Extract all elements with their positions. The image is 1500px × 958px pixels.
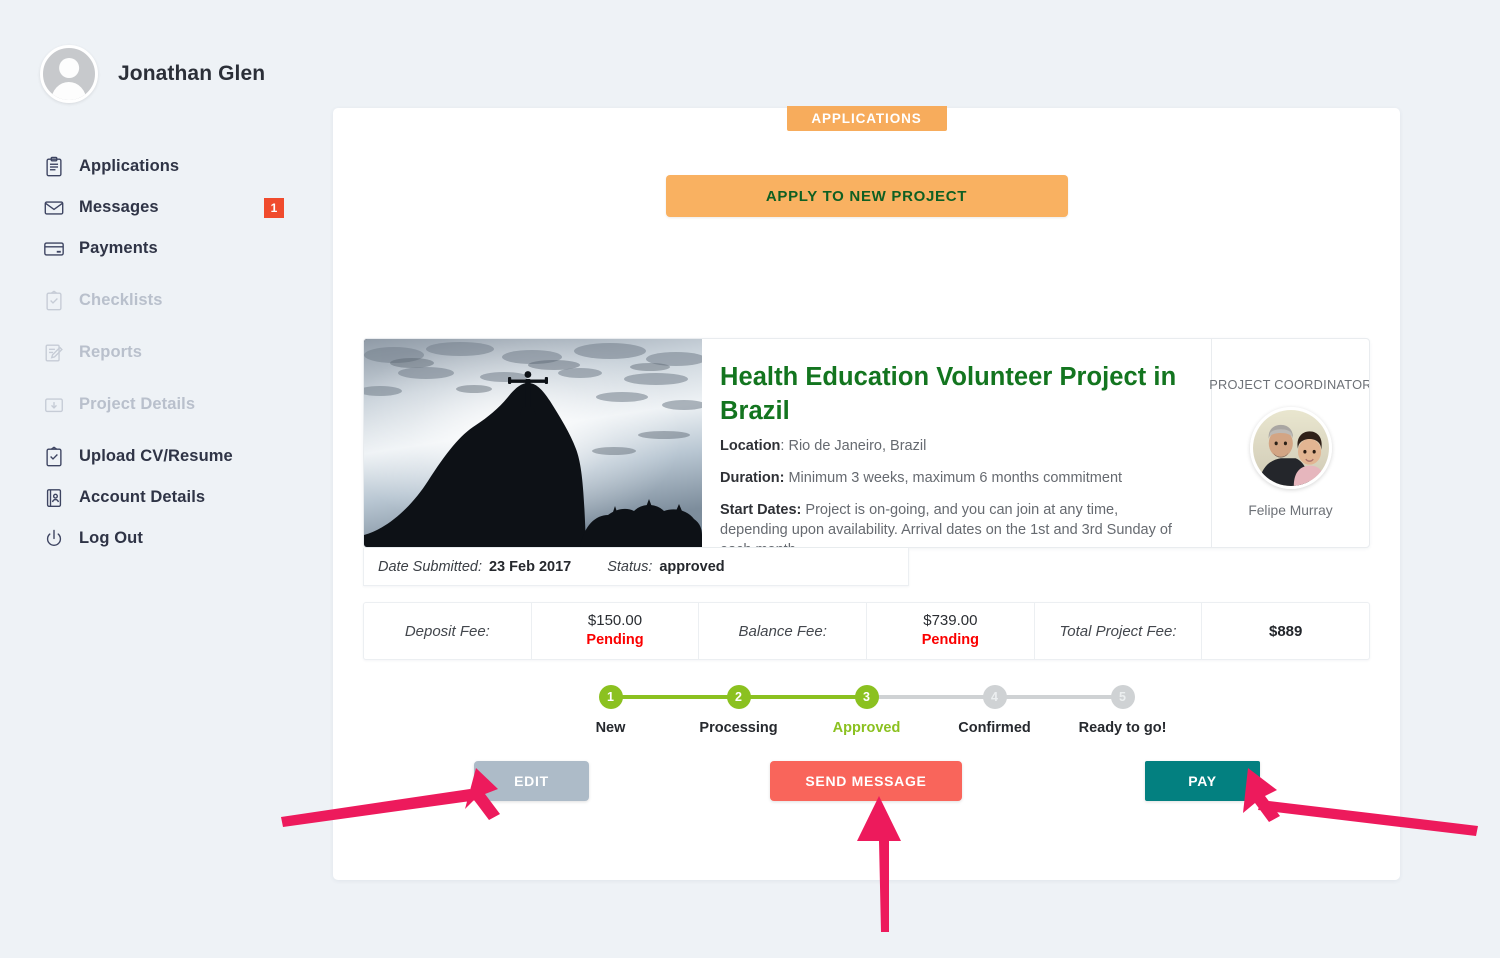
- balance-fee-amount: $739.00: [923, 612, 977, 631]
- sidebar-label: Checklists: [79, 291, 163, 310]
- power-icon: [42, 527, 66, 551]
- step-number: 5: [1111, 685, 1135, 709]
- sidebar-item-upload-cv[interactable]: Upload CV/Resume: [42, 436, 302, 477]
- project-location: Location: Rio de Janeiro, Brazil: [720, 437, 1185, 457]
- total-project-fee-label: Total Project Fee:: [1035, 603, 1202, 659]
- project-coordinator-panel: PROJECT COORDINATOR: [1211, 339, 1369, 547]
- sidebar: Jonathan Glen Applications: [0, 0, 333, 958]
- project-info: Health Education Volunteer Project in Br…: [702, 339, 1211, 547]
- project-duration: Duration: Minimum 3 weeks, maximum 6 mon…: [720, 469, 1185, 489]
- balance-fee-cell: $739.00 Pending: [867, 603, 1034, 659]
- sidebar-label: Reports: [79, 343, 142, 362]
- sidebar-item-applications[interactable]: Applications: [42, 146, 302, 187]
- pay-button[interactable]: PAY: [1145, 761, 1260, 801]
- envelope-icon: [42, 196, 66, 220]
- sidebar-label: Messages: [79, 198, 159, 217]
- sidebar-label: Account Details: [79, 488, 205, 507]
- deposit-fee-cell: $150.00 Pending: [532, 603, 699, 659]
- sidebar-label: Upload CV/Resume: [79, 447, 233, 466]
- folder-download-icon: [42, 393, 66, 417]
- user-name: Jonathan Glen: [118, 62, 265, 86]
- total-project-fee-cell: $889: [1202, 603, 1369, 659]
- clipboard-check-icon: [42, 289, 66, 313]
- coordinator-heading: PROJECT COORDINATOR: [1209, 377, 1370, 392]
- stepper-step-3[interactable]: 3 Approved: [831, 685, 903, 736]
- step-label: Approved: [833, 720, 901, 736]
- send-message-button[interactable]: SEND MESSAGE: [770, 761, 962, 801]
- sidebar-label: Applications: [79, 157, 179, 176]
- sidebar-nav: Applications Messages 1: [42, 146, 302, 559]
- step-number: 1: [599, 685, 623, 709]
- balance-fee-label: Balance Fee:: [699, 603, 866, 659]
- duration-value: Minimum 3 weeks, maximum 6 months commit…: [784, 470, 1122, 486]
- coordinator-name: Felipe Murray: [1248, 503, 1332, 518]
- step-label: New: [596, 720, 626, 736]
- coordinator-avatar: [1250, 407, 1332, 489]
- apply-to-new-project-button[interactable]: APPLY TO NEW PROJECT: [666, 175, 1068, 217]
- balance-fee-status: Pending: [922, 631, 979, 650]
- sidebar-item-payments[interactable]: Payments: [42, 228, 302, 269]
- user-profile-block: Jonathan Glen: [40, 45, 265, 103]
- date-submitted-value: 23 Feb 2017: [489, 559, 571, 575]
- sidebar-item-reports: Reports: [42, 332, 302, 373]
- stepper-step-2[interactable]: 2 Processing: [703, 685, 775, 736]
- location-value: : Rio de Janeiro, Brazil: [780, 438, 926, 454]
- tab-applications[interactable]: APPLICATIONS: [787, 106, 947, 131]
- stepper-step-5[interactable]: 5 Ready to go!: [1087, 685, 1159, 736]
- sidebar-label: Payments: [79, 239, 158, 258]
- stepper-step-4[interactable]: 4 Confirmed: [959, 685, 1031, 736]
- application-progress-stepper: 1 New 2 Processing 3 Approved 4 Confirme…: [593, 685, 1141, 741]
- deposit-fee-amount: $150.00: [588, 612, 642, 631]
- project-thumbnail-image: [364, 339, 702, 547]
- report-pencil-icon: [42, 341, 66, 365]
- sidebar-item-checklists: Checklists: [42, 280, 302, 321]
- contact-book-icon: [42, 486, 66, 510]
- submission-status-bar: Date Submitted: 23 Feb 2017 Status: appr…: [363, 548, 909, 586]
- sidebar-item-account-details[interactable]: Account Details: [42, 477, 302, 518]
- project-summary-row: Health Education Volunteer Project in Br…: [363, 338, 1370, 548]
- duration-label: Duration:: [720, 470, 784, 486]
- applications-card: APPLICATIONS APPLY TO NEW PROJECT: [333, 108, 1400, 880]
- deposit-fee-label: Deposit Fee:: [364, 603, 531, 659]
- start-dates-label: Start Dates:: [720, 502, 801, 518]
- sidebar-item-project-details: Project Details: [42, 384, 302, 425]
- step-label: Processing: [699, 720, 777, 736]
- user-avatar-icon: [40, 45, 98, 103]
- messages-badge: 1: [264, 198, 284, 218]
- action-buttons-row: EDIT SEND MESSAGE PAY: [333, 761, 1400, 803]
- date-submitted-label: Date Submitted:: [378, 559, 482, 575]
- status-value: approved: [659, 559, 724, 575]
- project-title: Health Education Volunteer Project in Br…: [720, 361, 1185, 428]
- sidebar-item-messages[interactable]: Messages 1: [42, 187, 302, 228]
- credit-card-icon: [42, 237, 66, 261]
- step-number: 3: [855, 685, 879, 709]
- app-page: Jonathan Glen Applications: [0, 0, 1500, 958]
- sidebar-label: Log Out: [79, 529, 143, 548]
- step-number: 4: [983, 685, 1007, 709]
- clipboard-check-icon: [42, 445, 66, 469]
- status-label: Status:: [607, 559, 652, 575]
- clipboard-lines-icon: [42, 155, 66, 179]
- step-label: Confirmed: [958, 720, 1031, 736]
- location-label: Location: [720, 438, 780, 454]
- deposit-fee-status: Pending: [586, 631, 643, 650]
- project-start-dates: Start Dates: Project is on-going, and yo…: [720, 501, 1185, 547]
- fees-row: Deposit Fee: $150.00 Pending Balance Fee…: [363, 602, 1370, 660]
- sidebar-item-log-out[interactable]: Log Out: [42, 518, 302, 559]
- stepper-step-1[interactable]: 1 New: [575, 685, 647, 736]
- step-label: Ready to go!: [1079, 720, 1167, 736]
- total-project-fee-amount: $889: [1269, 623, 1302, 640]
- sidebar-label: Project Details: [79, 395, 195, 414]
- step-number: 2: [727, 685, 751, 709]
- edit-button[interactable]: EDIT: [474, 761, 589, 801]
